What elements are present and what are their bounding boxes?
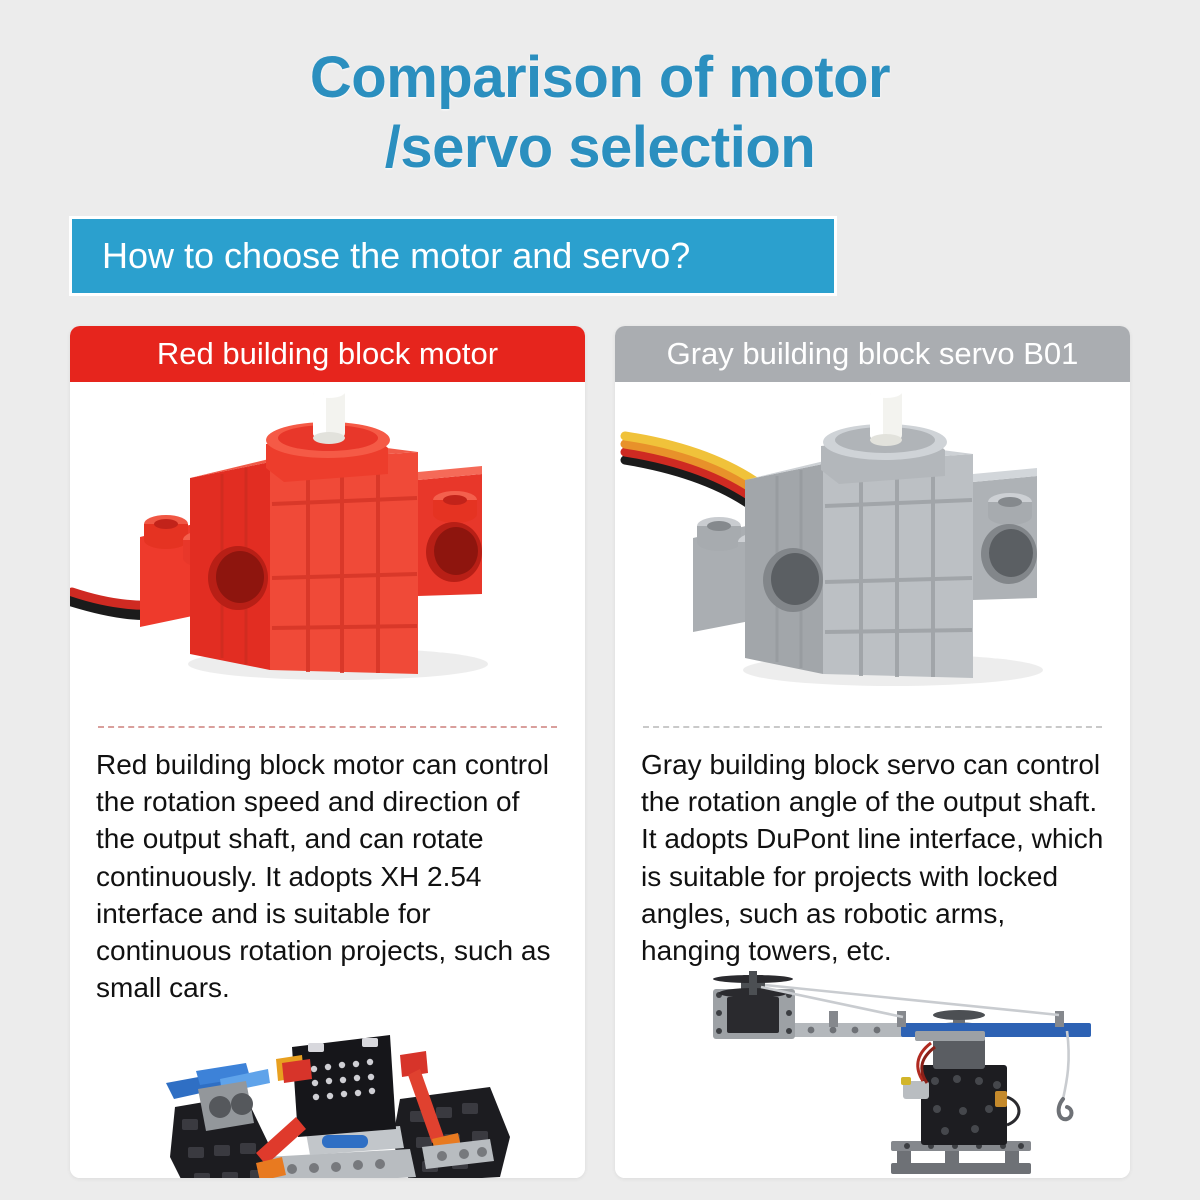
page-title-line-1: Comparison of motor [0, 44, 1200, 112]
application-photo-hanging-tower [615, 969, 1130, 1178]
subtitle-text: How to choose the motor and servo? [102, 235, 690, 277]
card-header-label: Red building block motor [157, 336, 498, 372]
card-header-label: Gray building block servo B01 [667, 336, 1079, 372]
card-header-gray-servo: Gray building block servo B01 [615, 326, 1130, 382]
card-red-motor: Red building block motor [70, 326, 585, 1178]
card-body-red-motor: Red building block motor can control the… [70, 728, 585, 1007]
page-title: Comparison of motor /servo selection [0, 44, 1200, 183]
card-body-gray-servo: Gray building block servo can control th… [615, 728, 1130, 969]
page-title-line-2: /servo selection [0, 114, 1200, 182]
subtitle-banner: How to choose the motor and servo? [72, 219, 834, 293]
card-header-red-motor: Red building block motor [70, 326, 585, 382]
gray-servo-illustration [615, 382, 1130, 726]
application-photo-robot-car [70, 1007, 585, 1178]
card-gray-servo: Gray building block servo B01 [615, 326, 1130, 1178]
hanging-tower-crane-illustration [615, 969, 1130, 1178]
comparison-cards: Red building block motor [70, 326, 1130, 1178]
robot-car-illustration [70, 1007, 585, 1178]
red-motor-illustration [70, 382, 585, 726]
product-photo-gray-servo [615, 382, 1130, 726]
product-photo-red-motor [70, 382, 585, 726]
